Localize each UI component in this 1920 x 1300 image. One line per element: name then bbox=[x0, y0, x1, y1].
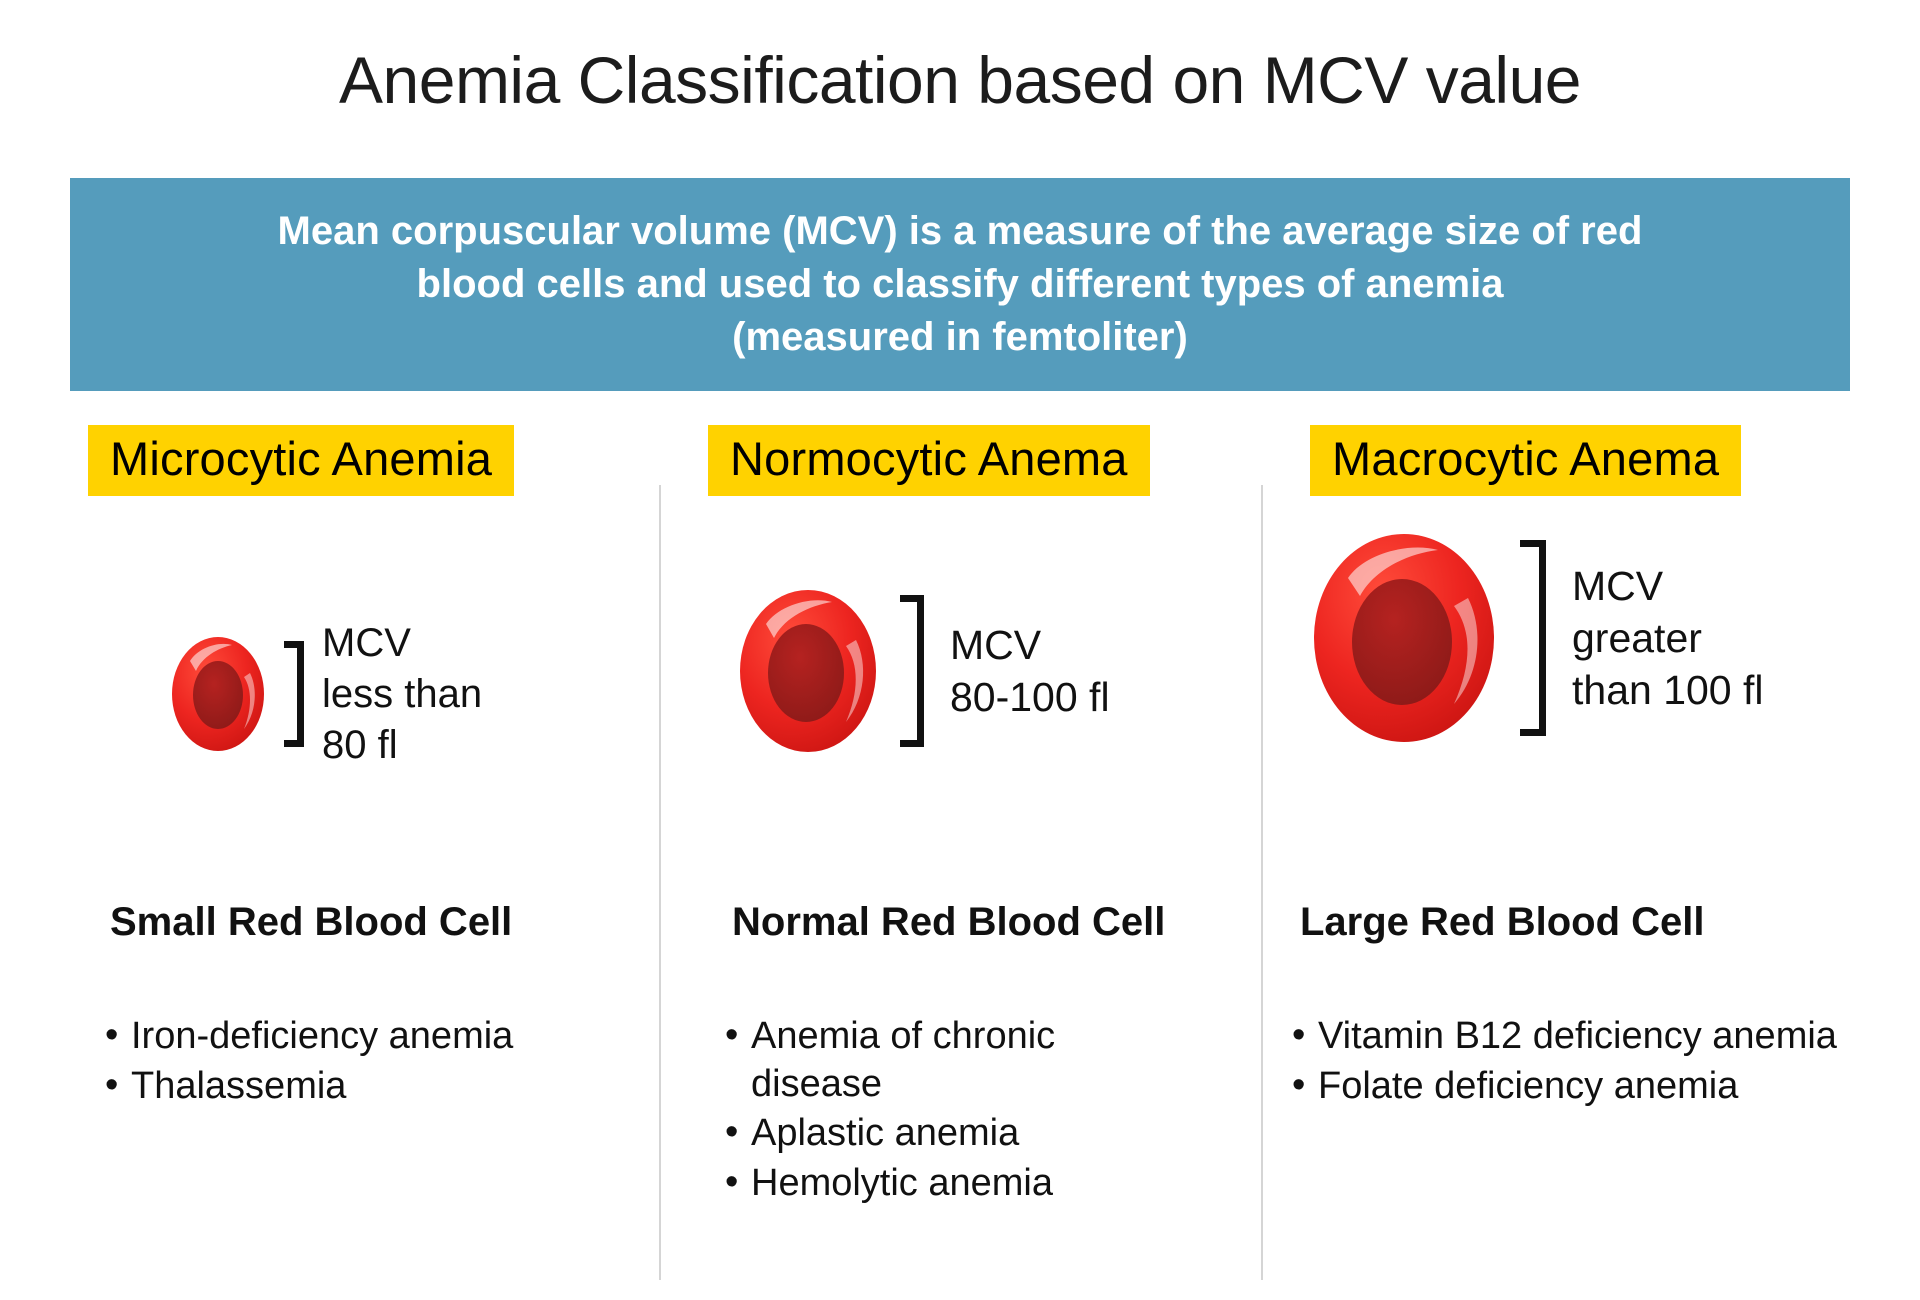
column-microcytic: Microcytic Anemia bbox=[0, 425, 660, 1275]
column-macrocytic: Macrocytic Anema bbox=[1262, 425, 1920, 1275]
cause-list-microcytic: Iron-deficiency anemia Thalassemia bbox=[105, 1013, 605, 1112]
red-blood-cell-icon-small bbox=[170, 635, 266, 753]
page-title: Anemia Classification based on MCV value bbox=[0, 42, 1920, 118]
list-item: Folate deficiency anemia bbox=[1292, 1063, 1852, 1111]
cause-list-macrocytic: Vitamin B12 deficiency anemia Folate def… bbox=[1292, 1013, 1852, 1112]
cell-caption-microcytic: Small Red Blood Cell bbox=[110, 900, 512, 945]
list-item: Aplastic anemia bbox=[725, 1110, 1155, 1158]
column-normocytic: Normocytic Anema bbox=[660, 425, 1262, 1275]
measure-bracket bbox=[900, 595, 924, 747]
cell-caption-macrocytic: Large Red Blood Cell bbox=[1300, 900, 1705, 945]
column-heading-microcytic: Microcytic Anemia bbox=[88, 425, 514, 496]
classification-columns: Microcytic Anemia bbox=[0, 425, 1920, 1275]
intro-banner: Mean corpuscular volume (MCV) is a measu… bbox=[70, 178, 1850, 391]
column-heading-macrocytic: Macrocytic Anema bbox=[1310, 425, 1741, 496]
cause-list-normocytic: Anemia of chronic disease Aplastic anemi… bbox=[725, 1013, 1155, 1209]
measure-bracket bbox=[1520, 540, 1546, 736]
mcv-range-label-microcytic: MCV less than 80 fl bbox=[322, 618, 482, 770]
cell-measure-row-macrocytic: MCV greater than 100 fl bbox=[1312, 532, 1764, 744]
measure-bracket bbox=[284, 641, 304, 747]
list-item: Vitamin B12 deficiency anemia bbox=[1292, 1013, 1852, 1061]
list-item: Thalassemia bbox=[105, 1063, 605, 1111]
cell-caption-normocytic: Normal Red Blood Cell bbox=[732, 900, 1165, 945]
cell-measure-row-microcytic: MCV less than 80 fl bbox=[170, 618, 482, 770]
red-blood-cell-icon-large bbox=[1312, 532, 1498, 744]
cell-measure-row-normocytic: MCV 80-100 fl bbox=[738, 588, 1110, 754]
intro-banner-text: Mean corpuscular volume (MCV) is a measu… bbox=[150, 205, 1770, 363]
list-item: Anemia of chronic disease bbox=[725, 1013, 1155, 1108]
column-heading-normocytic: Normocytic Anema bbox=[708, 425, 1150, 496]
list-item: Iron-deficiency anemia bbox=[105, 1013, 605, 1061]
mcv-range-label-macrocytic: MCV greater than 100 fl bbox=[1572, 560, 1764, 716]
mcv-range-label-normocytic: MCV 80-100 fl bbox=[950, 619, 1110, 723]
red-blood-cell-icon-normal bbox=[738, 588, 878, 754]
list-item: Hemolytic anemia bbox=[725, 1160, 1155, 1208]
